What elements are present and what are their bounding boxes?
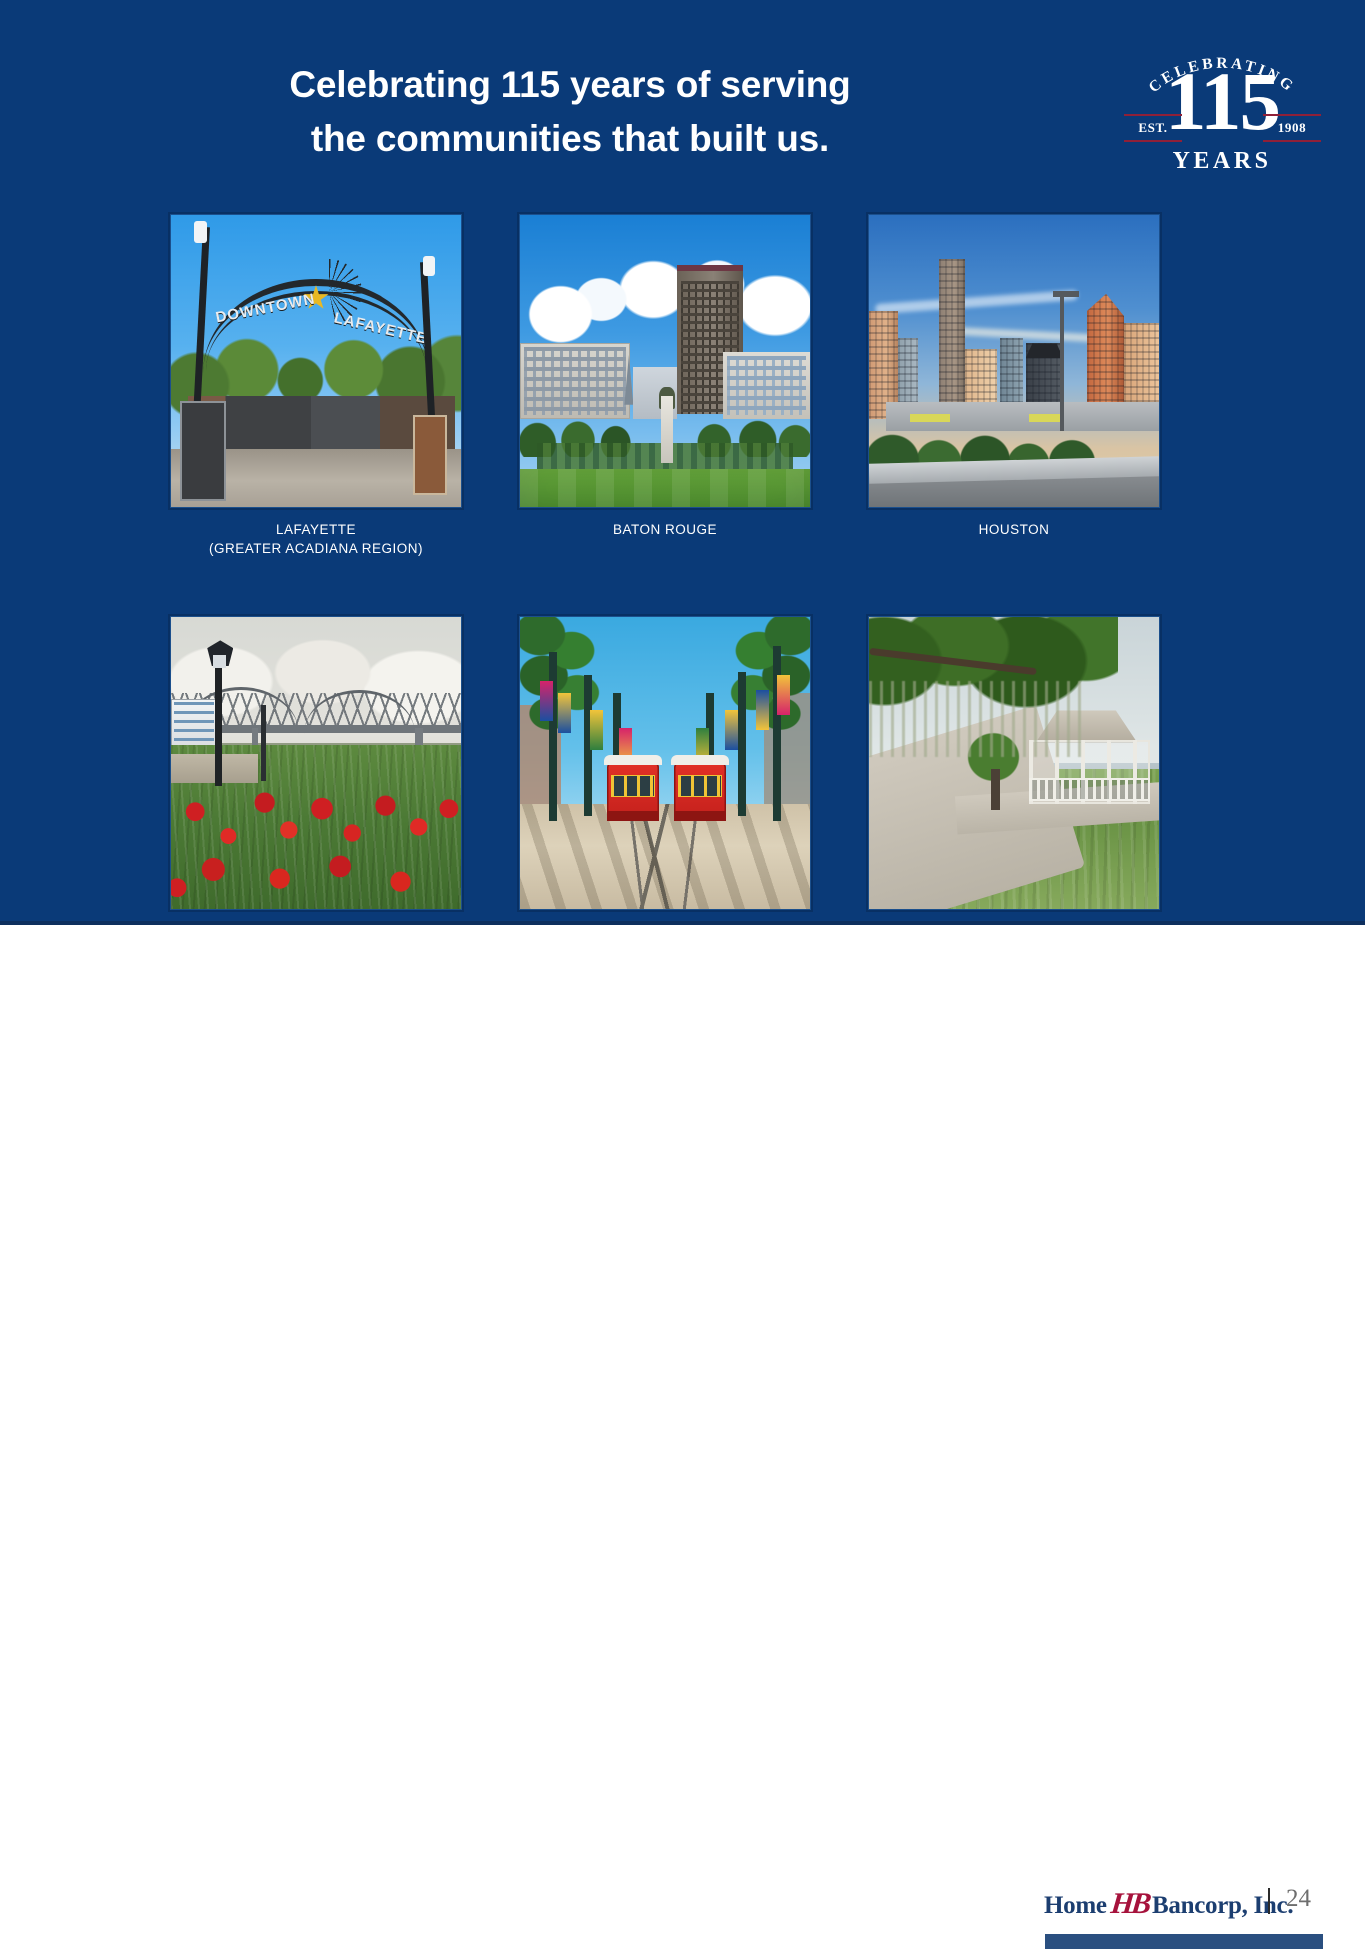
page-number: 24 — [1286, 1885, 1311, 1913]
slide: Celebrating 115 years of serving the com… — [0, 0, 1365, 1024]
baton-rouge-skyline-photo — [519, 214, 811, 508]
lafayette-downtown-arch-photo: DOWNTOWN LAFAYETTE — [170, 214, 462, 508]
caption-lafayette-sub: (GREATER ACADIANA REGION) — [170, 539, 462, 558]
caption-baton-rouge: BATON ROUGE — [519, 520, 811, 539]
brand-word-bancorp: Bancorp, Inc. — [1152, 1892, 1293, 1920]
anniversary-badge: CELEBRATING 115 EST. 1908 YEARS — [1122, 40, 1322, 180]
slide-footer: Home HB Bancorp, Inc. 24 — [0, 925, 1365, 1024]
badge-established-label: EST. — [1124, 121, 1182, 135]
footer-accent-bar — [1045, 1934, 1323, 1949]
badge-established: EST. — [1124, 114, 1182, 142]
houston-skyline-photo — [868, 214, 1160, 508]
badge-established-year: 1908 — [1263, 121, 1321, 135]
caption-lafayette: LAFAYETTE (GREATER ACADIANA REGION) — [170, 520, 462, 558]
caption-houston: HOUSTON — [868, 520, 1160, 539]
badge-rule-top-left — [1124, 114, 1182, 116]
page-title: Celebrating 115 years of serving the com… — [120, 58, 1020, 166]
market-photo-grid: DOWNTOWN LAFAYETTE LAFAYETTE (GREATER AC… — [170, 214, 1165, 941]
market-cell-baton-rouge: BATON ROUGE — [519, 214, 811, 558]
market-row-2: NATCHEZ — [170, 616, 1165, 941]
natchez-bridge-poppies-photo — [170, 616, 462, 910]
footer-divider — [1268, 1888, 1270, 1914]
badge-year: 1908 — [1263, 114, 1321, 142]
brand-word-home: Home — [1044, 1892, 1107, 1920]
badge-rule-bottom-left — [1124, 140, 1182, 142]
market-row-1: DOWNTOWN LAFAYETTE LAFAYETTE (GREATER AC… — [170, 214, 1165, 558]
market-cell-northshore: NORTHSHORE — [868, 616, 1160, 941]
caption-baton-rouge-main: BATON ROUGE — [613, 522, 717, 537]
hb-monogram-icon: HB — [1109, 1887, 1150, 1921]
market-cell-houston: HOUSTON — [868, 214, 1160, 558]
northshore-gazebo-park-photo — [868, 616, 1160, 910]
market-cell-natchez: NATCHEZ — [170, 616, 462, 941]
caption-houston-main: HOUSTON — [979, 522, 1050, 537]
title-line-2: the communities that built us. — [120, 112, 1020, 166]
new-orleans-streetcars-photo — [519, 616, 811, 910]
title-line-1: Celebrating 115 years of serving — [120, 58, 1020, 112]
market-cell-new-orleans: NEW ORLEANS — [519, 616, 811, 941]
home-bancorp-logo: Home HB Bancorp, Inc. — [1044, 1887, 1293, 1921]
badge-rule-bottom-right — [1263, 140, 1321, 142]
market-cell-lafayette: DOWNTOWN LAFAYETTE LAFAYETTE (GREATER AC… — [170, 214, 462, 558]
badge-rule-top-right — [1263, 114, 1321, 116]
badge-years-label: YEARS — [1122, 148, 1322, 175]
caption-lafayette-main: LAFAYETTE — [276, 522, 356, 537]
